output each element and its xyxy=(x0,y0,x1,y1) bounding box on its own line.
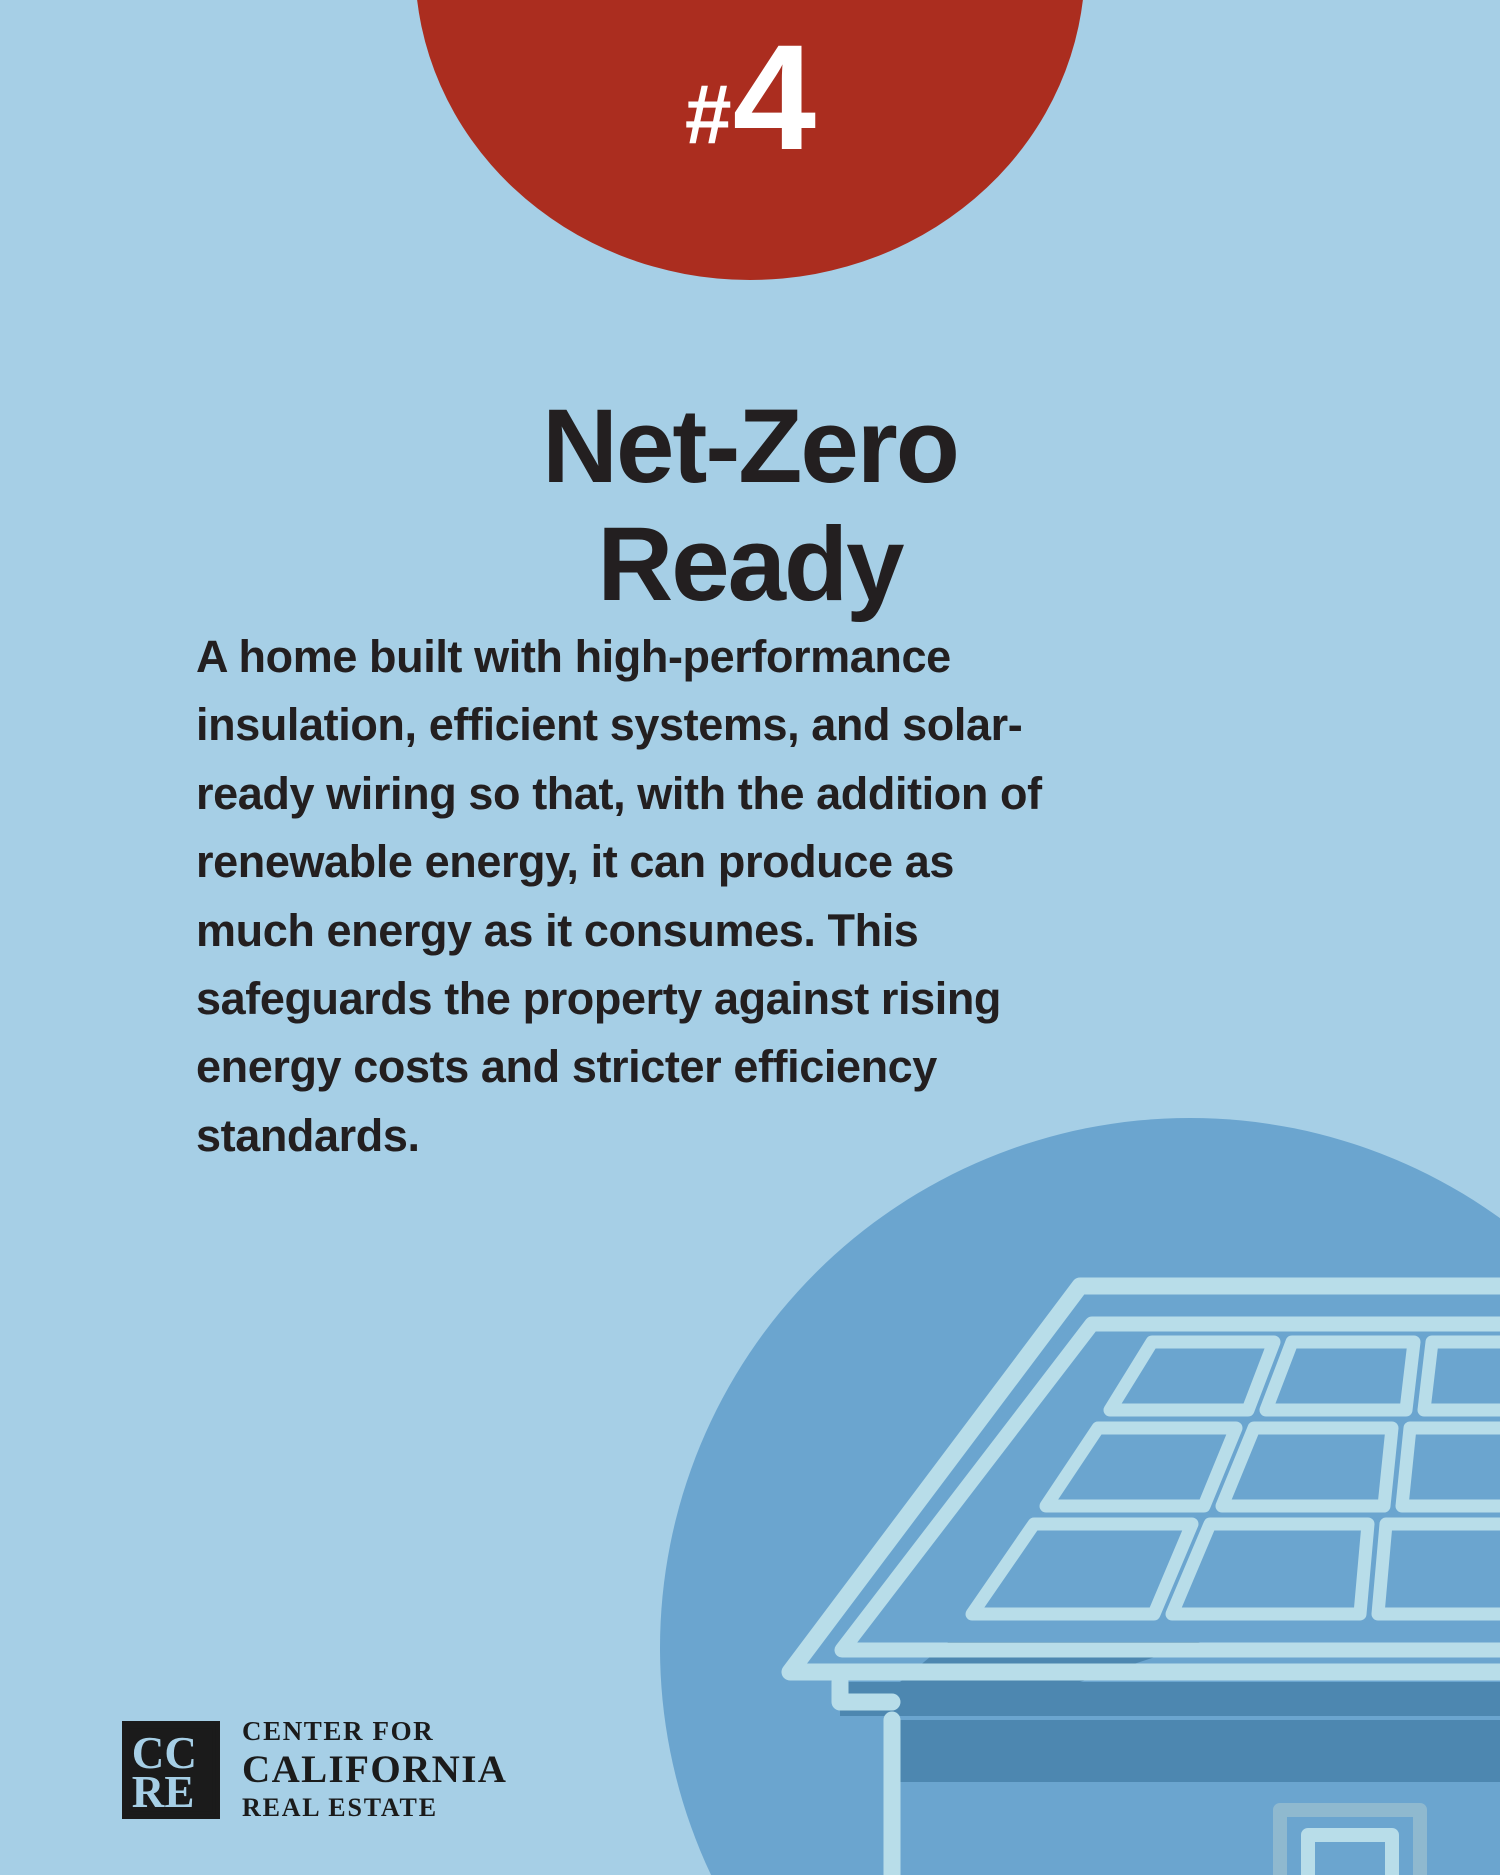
poster-canvas: # 4 Net-Zero Ready A home built with hig… xyxy=(0,0,1500,1875)
badge-hash-symbol: # xyxy=(685,72,731,156)
solar-panel-house-illustration xyxy=(780,1250,1500,1875)
step-number-badge: # 4 xyxy=(415,0,1085,280)
badge-number: 4 xyxy=(733,22,815,172)
ccre-logo-text: CENTER FOR CALIFORNIA REAL ESTATE xyxy=(242,1718,507,1821)
ccre-logo-line-1: CENTER FOR xyxy=(242,1718,507,1745)
page-title-line-1: Net-Zero xyxy=(542,388,958,505)
badge-inner: # 4 xyxy=(685,22,815,280)
ccre-logo-line-3: REAL ESTATE xyxy=(242,1795,507,1821)
ccre-logo-line-2: CALIFORNIA xyxy=(242,1750,507,1789)
page-title: Net-Zero Ready xyxy=(0,388,1500,623)
svg-text:RE: RE xyxy=(132,1767,195,1817)
page-title-line-2: Ready xyxy=(0,506,1500,624)
ccre-logo: CC RE CENTER FOR CALIFORNIA REAL ESTATE xyxy=(122,1718,507,1821)
body-paragraph: A home built with high-performance insul… xyxy=(196,623,1076,1170)
ccre-monogram-icon: CC RE xyxy=(122,1721,220,1819)
